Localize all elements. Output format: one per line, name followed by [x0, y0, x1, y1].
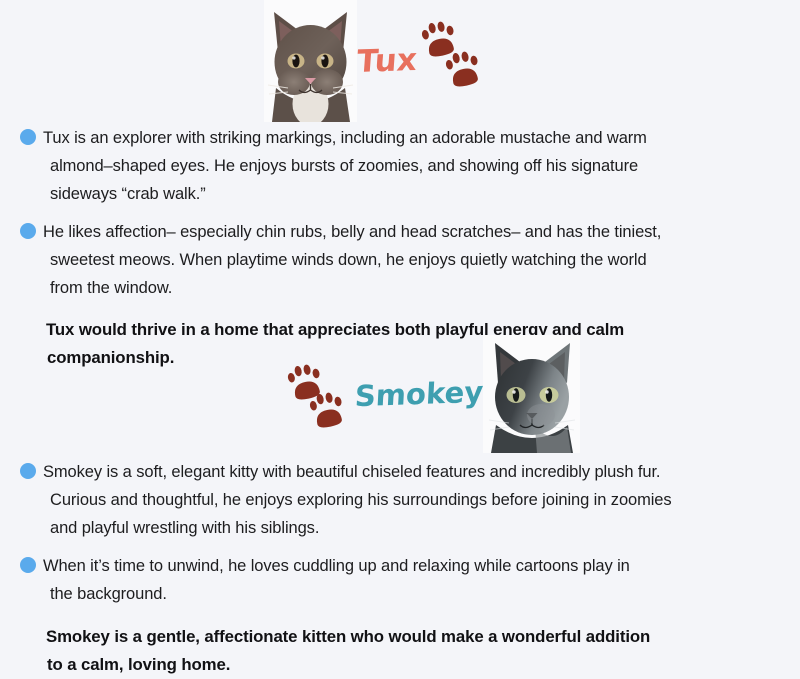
line: Curious and thoughtful, he enjoys explor… [43, 486, 672, 514]
line: the background. [43, 580, 630, 608]
list-item-text: Smokey is a soft, elegant kitty with bea… [43, 458, 672, 542]
paw-print-icon [417, 19, 489, 104]
smokey-name-label: Smokey [354, 375, 484, 413]
bullet-dot-icon [20, 223, 36, 239]
tux-header: Tux [264, 0, 489, 122]
bullet-dot-icon [20, 557, 36, 573]
paw-print-icon [283, 352, 355, 437]
list-item: Tux is an explorer with striking marking… [0, 124, 800, 208]
list-item-text: Tux is an explorer with striking marking… [43, 124, 647, 208]
list-item-text: He likes affection– especially chin rubs… [43, 218, 661, 302]
adoption-profile-page: Tux [0, 0, 800, 671]
line: almond–shaped eyes. He enjoys bursts of … [43, 152, 647, 180]
line: Smokey is a soft, elegant kitty with bea… [43, 463, 660, 481]
line: from the window. [43, 274, 661, 302]
tux-name-label: Tux [356, 42, 419, 80]
bullet-dot-icon [20, 129, 36, 145]
smokey-header: Smokey [283, 335, 580, 453]
list-item: When it’s time to unwind, he loves cuddl… [0, 552, 800, 608]
list-item: He likes affection– especially chin rubs… [0, 218, 800, 302]
list-item-text: When it’s time to unwind, he loves cuddl… [43, 552, 630, 608]
line: Tux is an explorer with striking marking… [43, 129, 647, 147]
tux-cat-photo [264, 0, 357, 122]
smokey-cat-photo [483, 335, 580, 453]
line: sweetest meows. When playtime winds down… [43, 246, 661, 274]
smokey-description-section: Smokey is a soft, elegant kitty with bea… [0, 458, 800, 679]
tux-cat-illustration [264, 0, 357, 122]
line: Smokey is a gentle, affectionate kitten … [46, 627, 650, 646]
paw-print-pair-icon [283, 352, 355, 432]
line: He likes affection– especially chin rubs… [43, 223, 661, 241]
list-item: Smokey is a soft, elegant kitty with bea… [0, 458, 800, 542]
bullet-dot-icon [20, 463, 36, 479]
line: and playful wrestling with his siblings. [43, 514, 672, 542]
line: sideways “crab walk.” [43, 180, 647, 208]
paw-print-pair-icon [417, 19, 489, 99]
smokey-cat-illustration [483, 335, 580, 453]
line: to a calm, loving home. [46, 651, 746, 679]
line: When it’s time to unwind, he loves cuddl… [43, 557, 630, 575]
